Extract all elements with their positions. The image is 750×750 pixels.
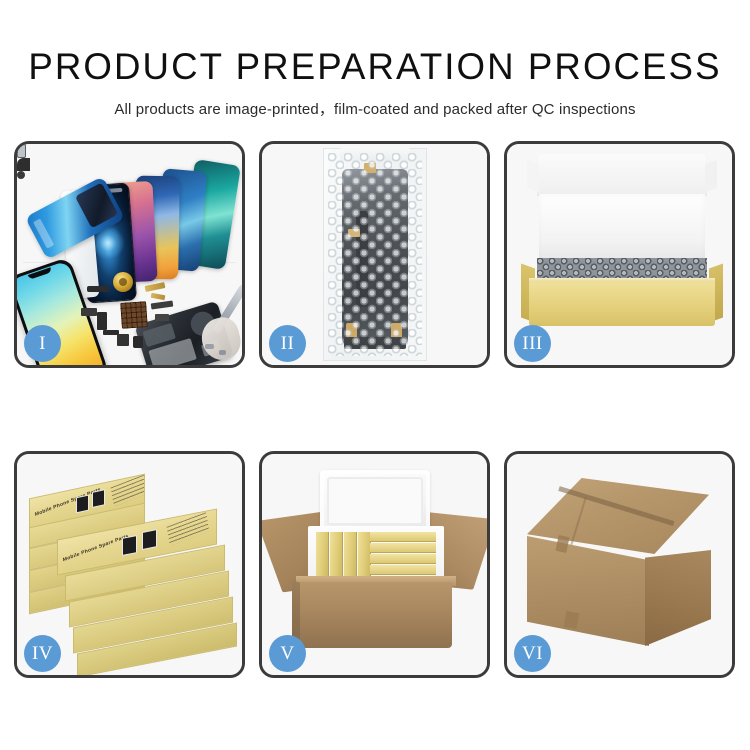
carton-side-face (645, 550, 711, 646)
page-subtitle: All products are image-printed，film-coat… (0, 98, 750, 119)
carton-tape-lower (564, 611, 580, 629)
lid-spec-lines-back (111, 475, 144, 507)
step-badge-4: IV (24, 635, 61, 672)
header: PRODUCT PREPARATION PROCESS All products… (0, 0, 750, 119)
carton-front-face (527, 536, 649, 646)
carton-front-panel (300, 582, 452, 648)
spare-part-1 (87, 286, 109, 292)
panel-step-5: V (259, 451, 490, 678)
screw-1 (205, 344, 214, 349)
panel-step-3: III (504, 141, 735, 368)
open-inner-box (523, 154, 721, 344)
yellow-box-col-1 (316, 532, 329, 582)
yellow-boxes-group (316, 532, 436, 582)
sealed-carton (521, 478, 721, 656)
spare-part-2 (81, 308, 97, 316)
bubble-wrap-bag (323, 148, 427, 361)
spare-part-3 (97, 312, 107, 330)
process-step-grid: I II (14, 141, 736, 732)
yellow-box-col-2 (330, 532, 343, 582)
spare-part-5 (117, 334, 129, 346)
screen-tab-middle (348, 229, 360, 237)
yellow-box-row-4 (370, 565, 436, 575)
panel-step-6: VI (504, 451, 735, 678)
lid-screen-thumb-1 (76, 495, 89, 514)
box-label-front: Mobile Phone Spare Parts (62, 533, 129, 563)
yellow-box-row-1 (370, 532, 436, 542)
screen-tab-top (364, 163, 376, 173)
panel-step-4: Mobile Phone Spare Parts Mobile Phone Sp… (14, 451, 245, 678)
step-badge-6: VI (514, 635, 551, 672)
spare-part-8 (155, 314, 169, 321)
yellow-box-row-2 (370, 543, 436, 553)
box-front-panel (529, 282, 715, 326)
gold-coil-part (113, 272, 133, 292)
panel-step-2: II (259, 141, 490, 368)
yellow-box-row-3 (370, 554, 436, 564)
step-badge-3: III (514, 325, 551, 362)
step-badge-5: V (269, 635, 306, 672)
step-badge-2: II (269, 325, 306, 362)
yellow-box-col-3 (344, 532, 357, 582)
lid-screen-thumb-3 (122, 535, 137, 556)
screen-flex-cable (356, 211, 368, 307)
lid-screen-thumb-2 (92, 489, 105, 508)
box-stack: Mobile Phone Spare Parts Mobile Phone Sp… (25, 468, 237, 664)
chip-grid-part (120, 301, 148, 329)
step-badge-1: I (24, 325, 61, 362)
foam-lid-upright (537, 154, 707, 196)
foam-lid-open (320, 470, 430, 532)
spare-part-6 (133, 336, 143, 348)
open-shipping-carton (278, 470, 474, 656)
lid-screen-thumb-4 (142, 529, 157, 550)
screw-2 (219, 350, 226, 355)
phone-notch (28, 267, 52, 280)
lid-spec-lines-front (167, 512, 210, 546)
foam-sheet (539, 194, 705, 260)
page-title: PRODUCT PREPARATION PROCESS (4, 48, 747, 85)
wrapped-screen-assembly (342, 169, 408, 345)
panel-step-1: I (14, 141, 245, 368)
product-preparation-infographic: PRODUCT PREPARATION PROCESS All products… (0, 0, 750, 750)
screen-base-bar (344, 337, 406, 349)
